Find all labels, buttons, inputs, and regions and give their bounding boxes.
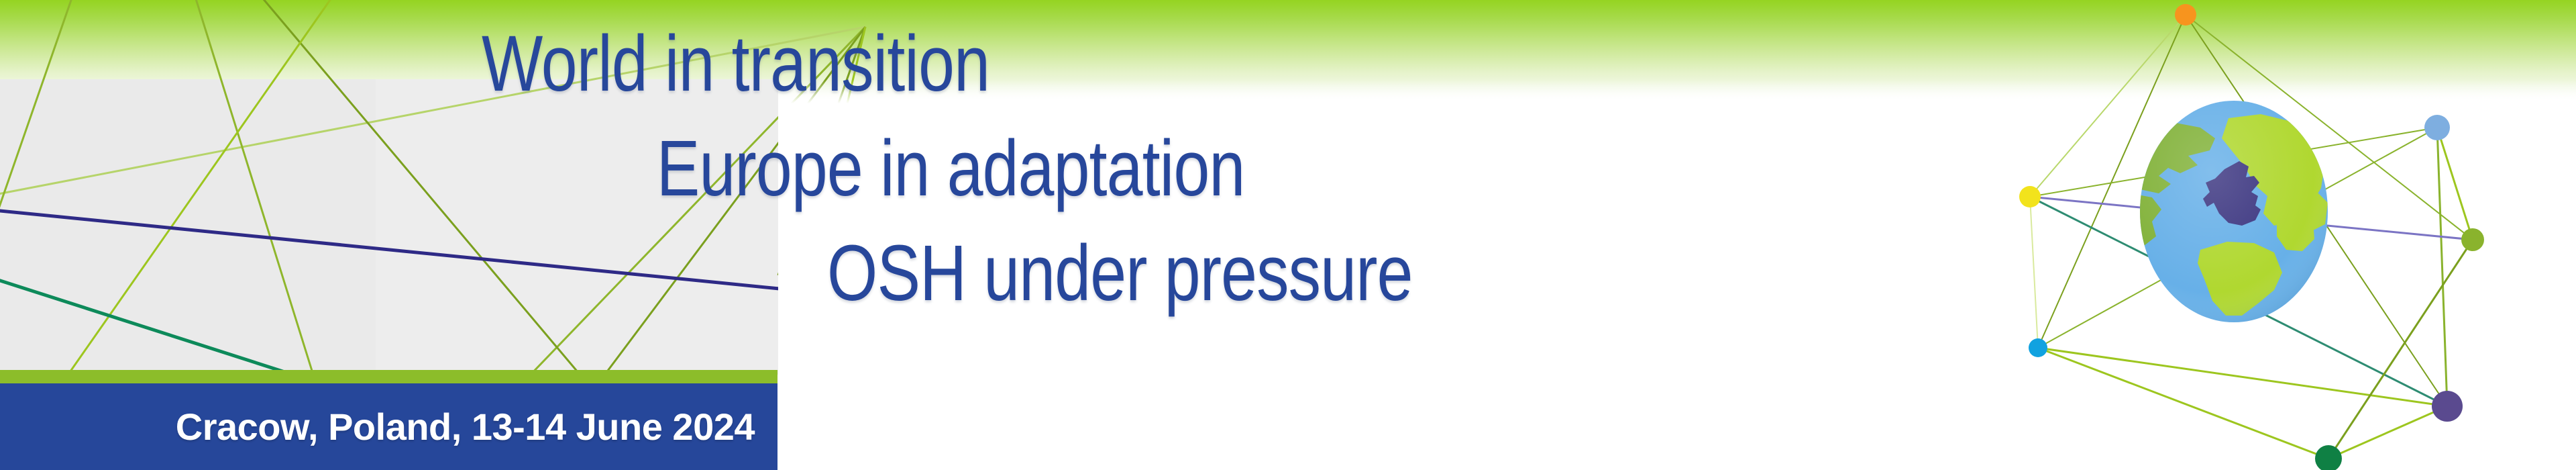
decor-line-5 xyxy=(0,0,80,282)
page-title: World in transition Europe in adaptation… xyxy=(470,12,1669,415)
node-orange xyxy=(2175,4,2196,26)
conference-banner: World in transition Europe in adaptation… xyxy=(0,0,2576,470)
globe-shading xyxy=(2140,101,2328,322)
network-edge-4 xyxy=(2437,128,2473,240)
globe xyxy=(2127,101,2328,322)
node-purple xyxy=(2432,391,2463,422)
headline-line-1: World in transition xyxy=(470,12,1669,117)
decor-line-8 xyxy=(0,0,349,384)
node-olive xyxy=(2461,228,2484,251)
node-cyan xyxy=(2029,338,2047,357)
green-accent-bar xyxy=(0,370,777,383)
headline-line-3: OSH under pressure xyxy=(470,222,1669,326)
node-yellow xyxy=(2019,186,2041,207)
headline-line-2: Europe in adaptation xyxy=(470,117,1669,222)
decor-line-6 xyxy=(188,0,322,384)
node-lightblue xyxy=(2424,115,2450,140)
network-edge-10 xyxy=(2038,348,2447,406)
network-edge-11 xyxy=(2038,348,2328,459)
network-edge-9 xyxy=(2030,197,2038,348)
event-date-location-label: Cracow, Poland, 13-14 June 2024 xyxy=(0,383,755,470)
globe-landmasses xyxy=(2127,101,2328,322)
globe-network-svg xyxy=(1979,0,2576,470)
globe-network-graphic xyxy=(1979,0,2576,470)
node-darkgreen xyxy=(2315,445,2342,470)
network-edge-5 xyxy=(2437,128,2447,406)
